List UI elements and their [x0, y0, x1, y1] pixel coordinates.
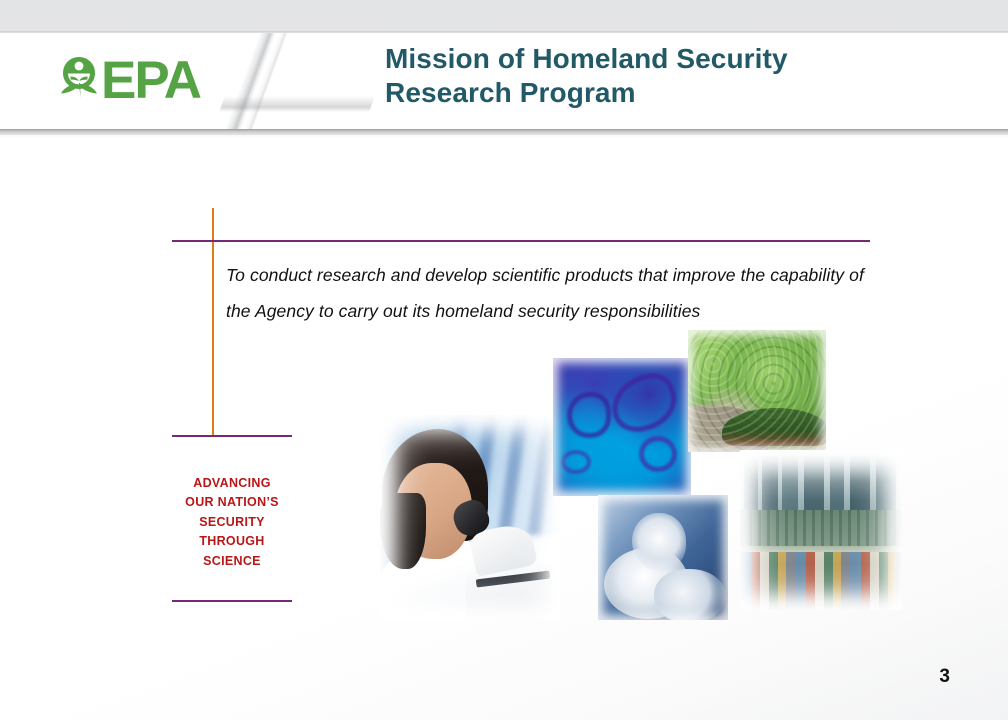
slide: EPA Mission of Homeland Security Researc…: [0, 0, 1008, 720]
tree-garden-photo: [688, 330, 826, 452]
tagline-line-4: THROUGH: [172, 532, 292, 551]
vertical-accent-rule: [212, 208, 214, 436]
page-title-line-1: Mission of Homeland Security: [385, 42, 945, 76]
horizontal-rule-tagline-bottom: [172, 600, 292, 602]
tagline-line-1: ADVANCING: [172, 474, 292, 493]
horizontal-rule-tagline-top: [172, 435, 292, 437]
city-harbor-photo: [740, 450, 902, 610]
page-number: 3: [939, 666, 950, 688]
banner-diagonal-accent-1: [212, 33, 284, 129]
horizontal-rule-top: [172, 240, 870, 242]
cloud-plume-photo: [598, 495, 728, 620]
banner-bottom-shadow: [0, 129, 1008, 138]
epa-seal-icon: [55, 55, 103, 105]
photo-collage: [370, 330, 930, 620]
thermal-scan-photo: [553, 358, 691, 496]
scientist-microscope-photo: [380, 415, 560, 620]
tagline-line-2: OUR NATION’S: [172, 493, 292, 512]
tagline-line-5: SCIENCE: [172, 552, 292, 571]
tagline-line-3: SECURITY: [172, 513, 292, 532]
tagline-block: ADVANCING OUR NATION’S SECURITY THROUGH …: [172, 474, 292, 571]
banner-top-edge: [0, 31, 1008, 33]
epa-wordmark: EPA: [101, 54, 200, 107]
banner-diagonal-accent-2: [231, 33, 295, 129]
page-title: Mission of Homeland Security Research Pr…: [385, 42, 945, 110]
mission-statement: To conduct research and develop scientif…: [226, 258, 876, 330]
epa-logo: EPA: [55, 52, 200, 108]
page-title-line-2: Research Program: [385, 76, 945, 110]
